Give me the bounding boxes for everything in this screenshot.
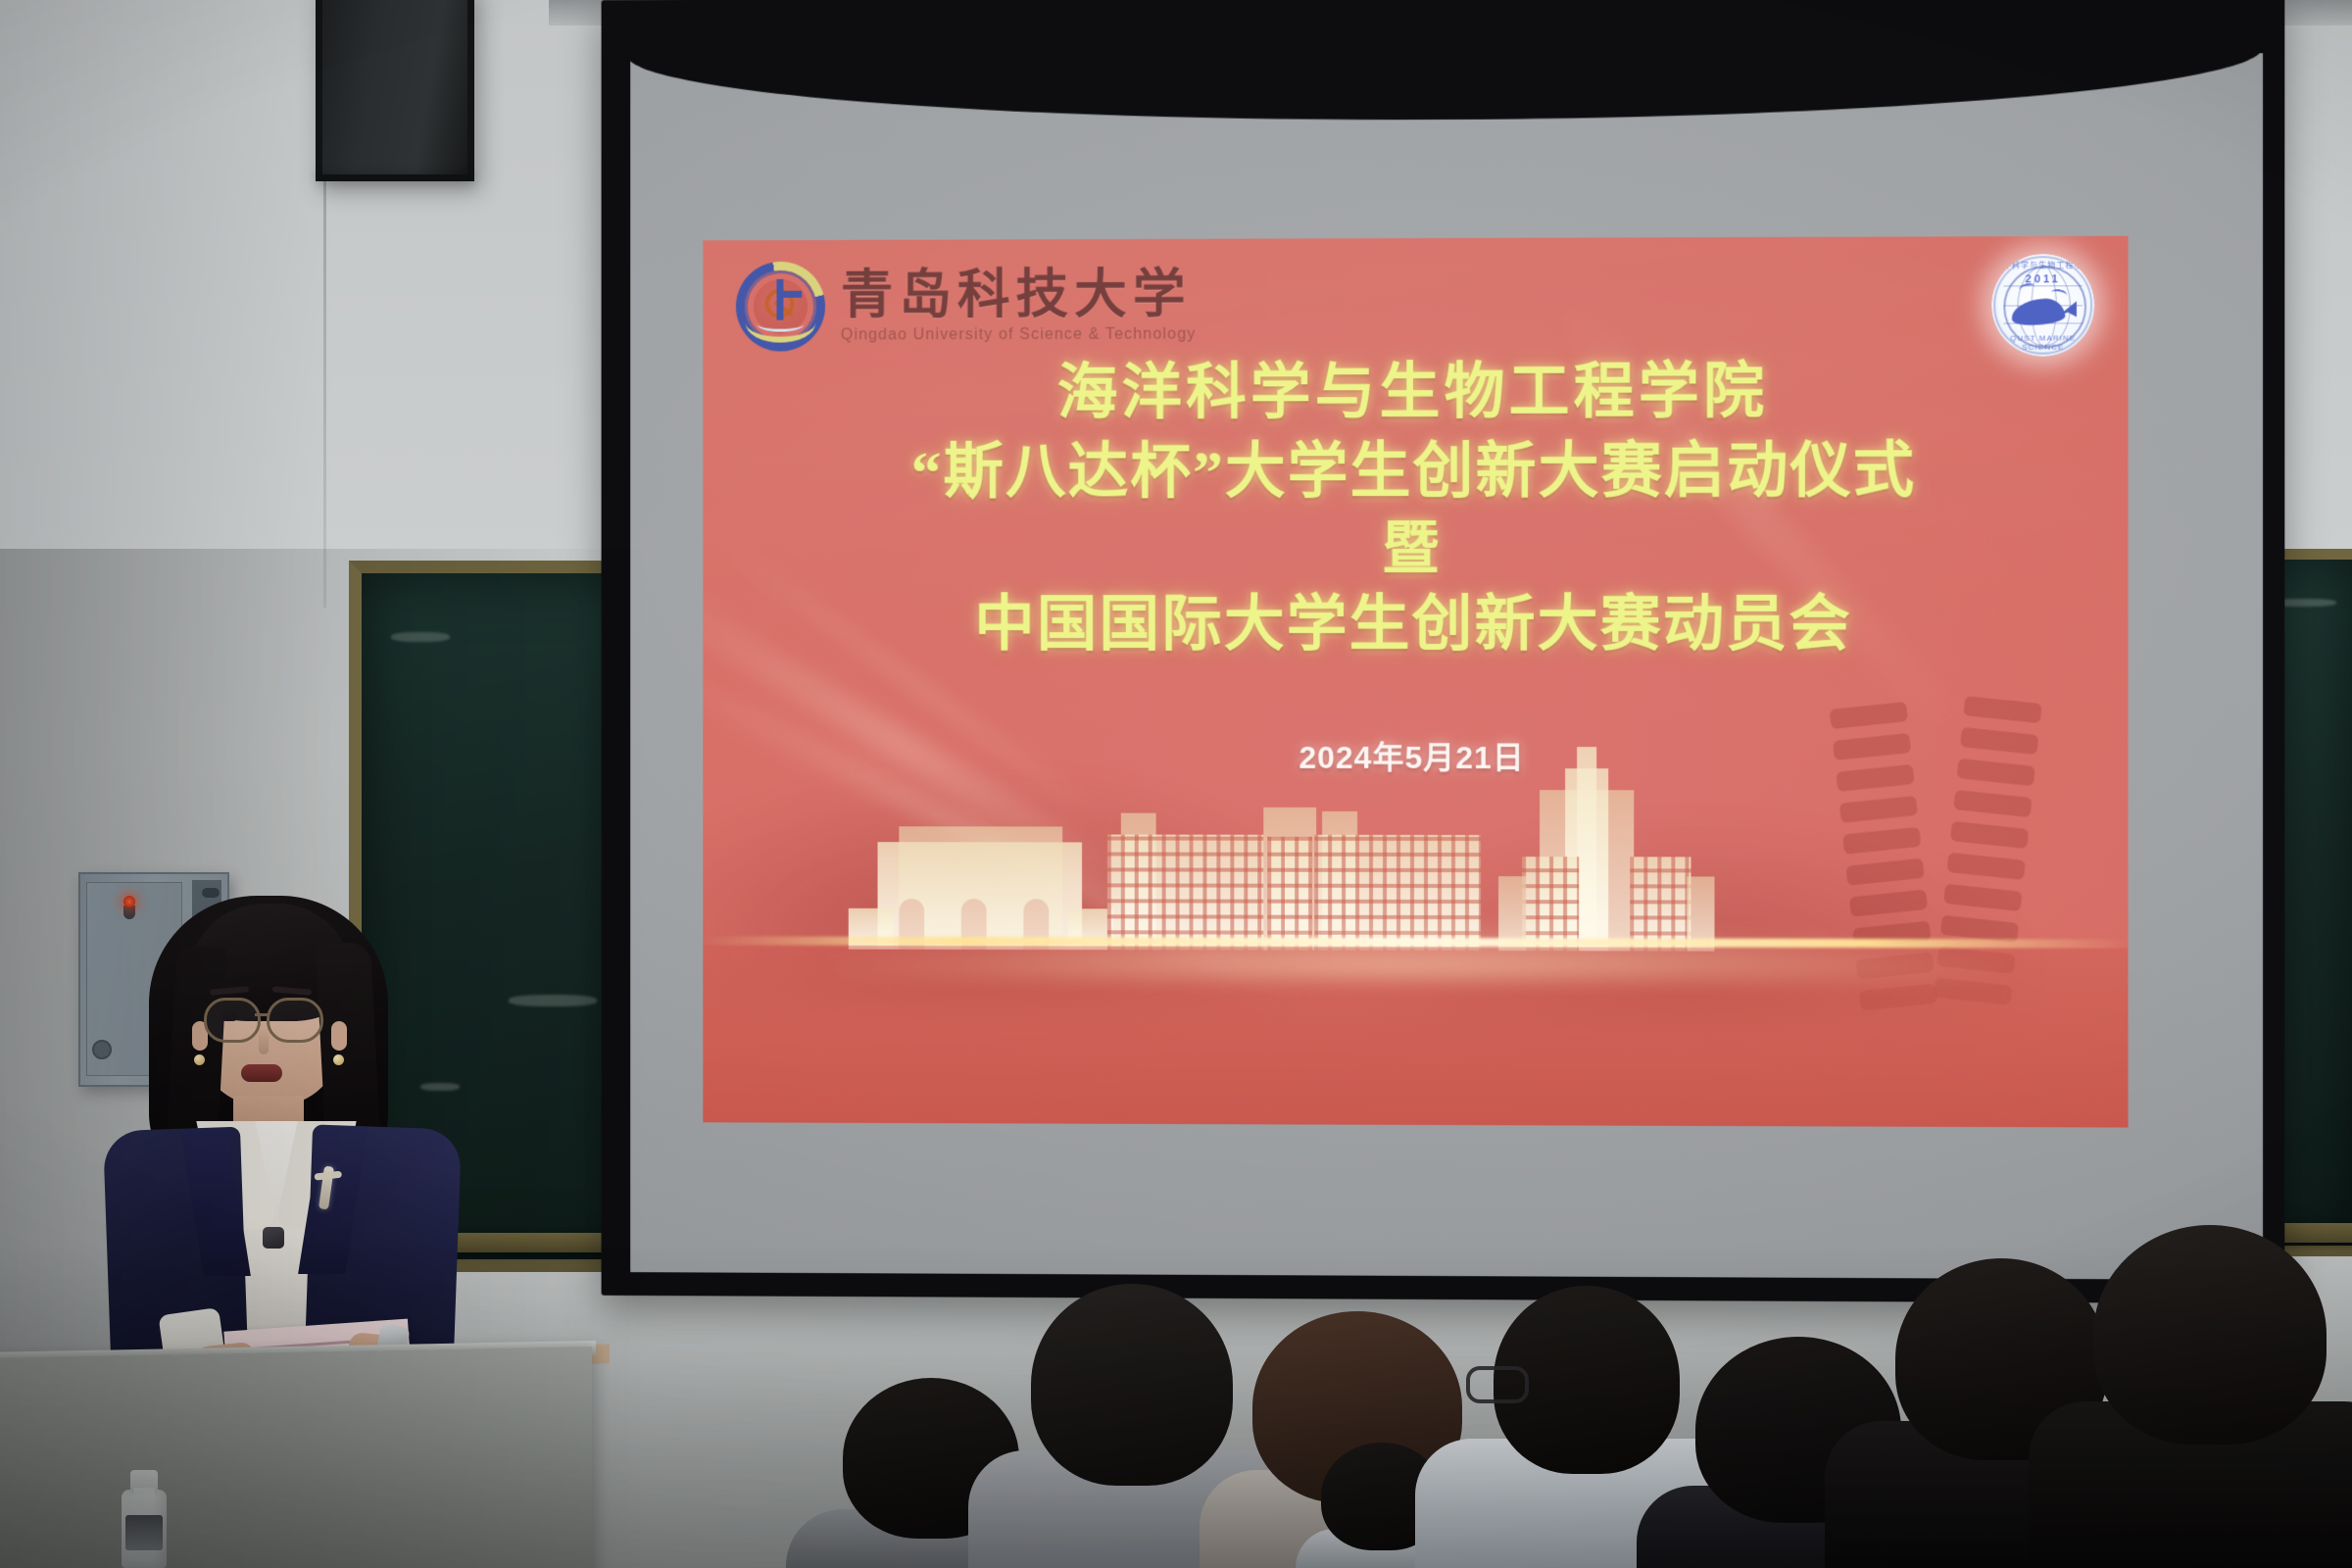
presenter-eye [284, 1013, 300, 1021]
college-rim-text-bottom: QUST MARINE SCIENCE [1991, 333, 2094, 351]
presentation-slide: 青岛科技大学 Qingdao University of Science & T… [703, 236, 2128, 1128]
eyeglasses-bridge [255, 1013, 269, 1016]
bottle-label [125, 1515, 163, 1550]
presenter-nose [259, 1029, 269, 1054]
chalk-smudge [509, 995, 597, 1006]
photo-scene: 青岛科技大学 Qingdao University of Science & T… [0, 0, 2352, 1568]
pearl-earring-icon [333, 1054, 344, 1065]
lectern-podium [0, 1347, 592, 1568]
qust-emblem-icon [736, 262, 825, 352]
presenter-mouth [241, 1064, 282, 1082]
slide-title-line-4: 中国国际大学生创新大赛动员会 [703, 585, 2128, 664]
slide-date: 2024年5月21日 [703, 733, 2128, 779]
college-emblem-year: 2011 [1991, 273, 2094, 285]
bottle-neck [133, 1488, 155, 1499]
eyeglasses-icon [1466, 1366, 1529, 1403]
slide-title-line-2: “斯八达杯”大学生创新大赛启动仪式 [703, 431, 2128, 513]
water-bottle [122, 1490, 167, 1568]
female-presenter [98, 882, 470, 1411]
university-name-en: Qingdao University of Science & Technolo… [841, 327, 1197, 344]
wall-speaker-icon [316, 0, 474, 181]
projection-screen-frame: 青岛科技大学 Qingdao University of Science & T… [602, 0, 2285, 1303]
projection-screen-surface: 青岛科技大学 Qingdao University of Science & T… [630, 53, 2263, 1280]
pearl-earring-icon [194, 1054, 205, 1065]
slide-title-line-1: 海洋科学与生物工程学院 [703, 352, 2128, 433]
audience-member [2038, 1245, 2352, 1568]
university-name-cn: 青岛科技大学 [841, 269, 1197, 322]
chalk-smudge [391, 632, 450, 642]
presenter-eye [221, 1013, 237, 1021]
blouse-button-icon [263, 1227, 284, 1249]
marine-college-emblem-icon: 海洋科学与生物工程学院 2011 QUST MARINE SCIENCE [1991, 254, 2094, 357]
slide-title-block: 海洋科学与生物工程学院 “斯八达杯”大学生创新大赛启动仪式 暨 中国国际大学生创… [703, 352, 2128, 664]
presenter-ear [331, 1021, 347, 1051]
slide-title-line-3: 暨 [703, 511, 2128, 585]
university-logo: 青岛科技大学 Qingdao University of Science & T… [736, 261, 1197, 352]
